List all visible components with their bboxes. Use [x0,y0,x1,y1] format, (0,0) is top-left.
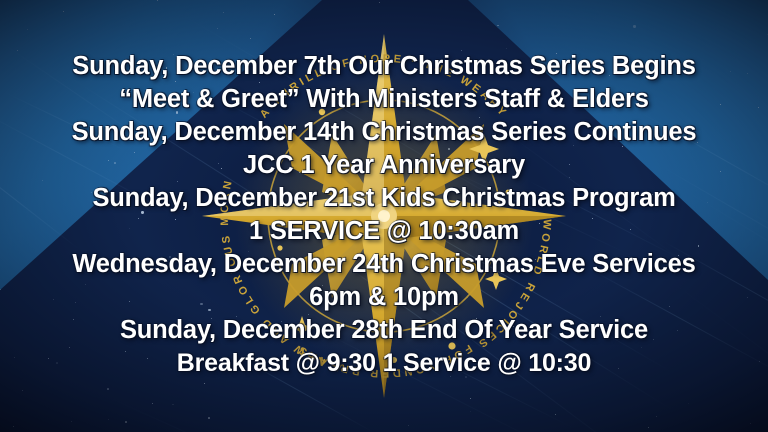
schedule-line: Sunday, December 21st Kids Christmas Pro… [92,182,675,215]
schedule-line: Sunday, December 28th End Of Year Servic… [120,314,648,347]
schedule-line: Breakfast @ 9:30 1 Service @ 10:30 [177,347,591,379]
schedule-line: “Meet & Greet” With Ministers Staff & El… [119,83,648,116]
schedule-line: Sunday, December 7th Our Christmas Serie… [72,50,695,83]
schedule-line: Sunday, December 14th Christmas Series C… [72,116,697,149]
schedule-line: Wednesday, December 24th Christmas Eve S… [72,248,695,281]
schedule-line: 1 SERVICE @ 10:30am [249,215,519,248]
schedule-line: JCC 1 Year Anniversary [243,149,525,182]
announcement-slide: A THRILL OF HOPE · THE WEARY WORLD REJOI… [0,0,768,432]
schedule-text-block: Sunday, December 7th Our Christmas Serie… [0,0,768,432]
schedule-line: 6pm & 10pm [309,281,459,314]
